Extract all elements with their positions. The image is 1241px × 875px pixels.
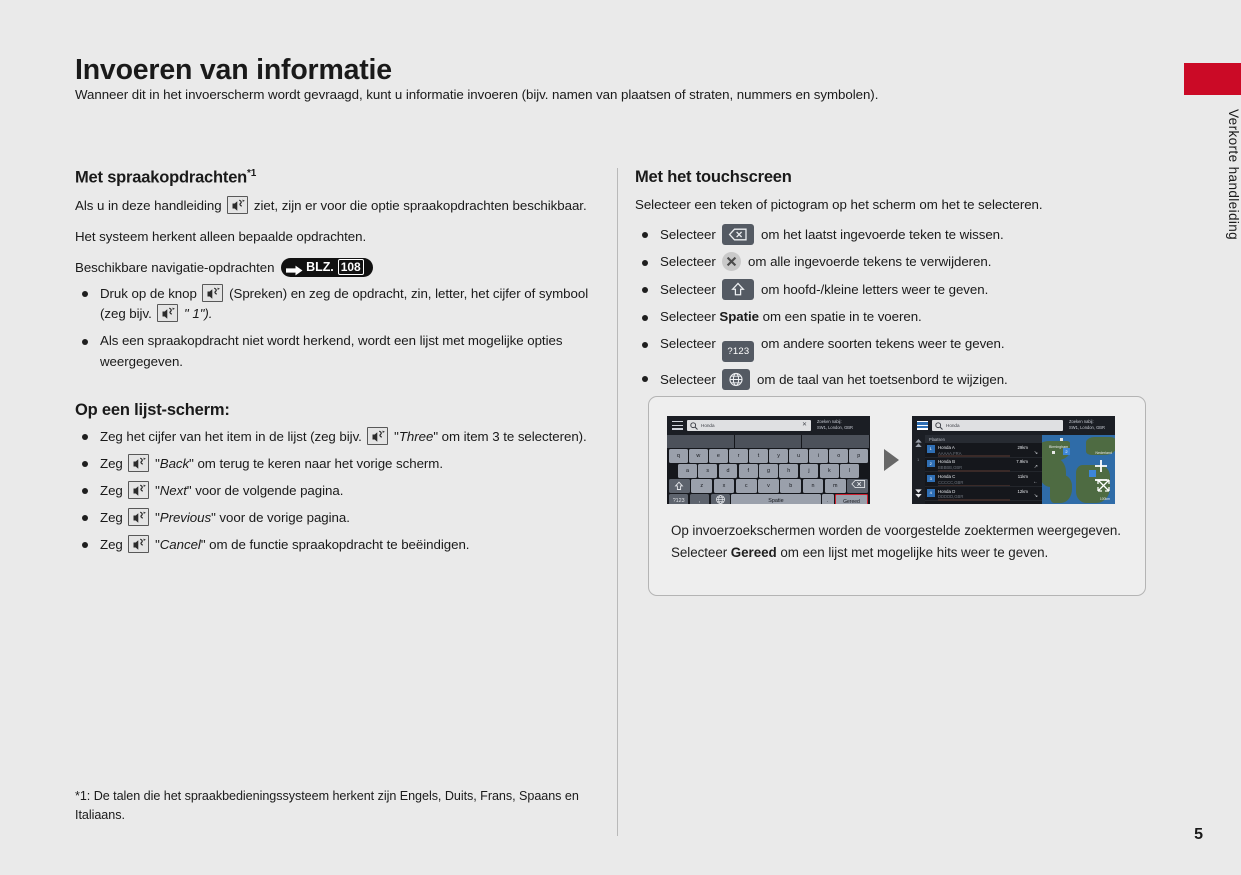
table-row[interactable] (925, 501, 1042, 504)
left-column: Met spraakopdrachten*1 Als u in deze han… (75, 168, 610, 562)
shift-icon[interactable] (669, 479, 690, 493)
key-y[interactable]: y (769, 449, 788, 463)
key-n[interactable]: n (803, 479, 824, 493)
lb-3-quote: Previous (160, 510, 211, 525)
key-m[interactable]: m (825, 479, 846, 493)
direction-icon: ← (1033, 479, 1038, 485)
backspace-icon[interactable] (722, 224, 754, 245)
list-item: Zeg "Previous" voor de vorige pagina. (75, 508, 610, 529)
callout-caption: Op invoerzoekschermen worden de voorgest… (671, 520, 1127, 563)
key-t[interactable]: t (749, 449, 768, 463)
search-value: Honda (701, 423, 715, 428)
key-s[interactable]: s (698, 464, 717, 478)
lb-4-a: Zeg (100, 537, 123, 552)
key-r[interactable]: r (729, 449, 748, 463)
page-index: 1 (917, 457, 919, 462)
tb-2-a: Selecteer (660, 282, 716, 297)
speak-icon (128, 535, 149, 553)
key-h[interactable]: h (779, 464, 798, 478)
voice-intro-a: Als u in deze handleiding (75, 198, 222, 213)
callout-caption-bold: Gereed (731, 545, 777, 560)
lb-3-b: " voor de vorige pagina. (211, 510, 350, 525)
row-name: Honda A (938, 445, 955, 450)
arrow-right-icon (286, 262, 303, 273)
side-tab-label: Verkorte handleiding (1184, 105, 1241, 305)
lb-1-b: " om terug te keren naar het vorige sche… (189, 456, 443, 471)
row-name: Honda D (938, 489, 955, 494)
voice-para3: Beschikbare navigatie-opdrachten BLZ. 10… (75, 257, 610, 278)
key-x[interactable]: x (714, 479, 735, 493)
symbols-icon[interactable]: ?123 (669, 494, 688, 504)
scroll-down-icon[interactable] (915, 489, 922, 499)
search-near-info: Zoeken nabij: SW1, London, GBR (817, 419, 867, 431)
footnote: *1: De talen die het spraakbedieningssys… (75, 787, 595, 825)
key-j[interactable]: j (800, 464, 819, 478)
voice-para2: Het systeem herkent alleen bepaalde opdr… (75, 226, 610, 247)
clear-icon[interactable]: ✕ (802, 422, 807, 428)
footnote-marker: *1 (247, 168, 256, 179)
key-w[interactable]: w (689, 449, 708, 463)
list-screen-bullets: Zeg het cijfer van het item in de lijst … (75, 427, 610, 556)
results-list-header: Plaatsen (925, 435, 1042, 443)
list-item: Zeg "Cancel" om de functie spraakopdrach… (75, 535, 610, 556)
voice-intro-paragraph: Als u in deze handleiding ziet, zijn er … (75, 195, 610, 216)
speak-icon (128, 508, 149, 526)
lb-2-a: Zeg (100, 483, 123, 498)
search-near-value: SW1, London, GBR (1069, 425, 1105, 430)
search-near-label: Zoeken nabij: (817, 419, 842, 424)
row-index: 2 (927, 460, 935, 468)
lb-4-quote: Cancel (160, 537, 201, 552)
key-space[interactable]: Spatie (731, 494, 820, 504)
direction-icon: ↗ (1034, 464, 1038, 470)
speak-icon (157, 304, 178, 322)
map-panel[interactable]: Birmingham Nederland 2 100km (1042, 435, 1115, 504)
lb-4-b: " om de functie spraakopdracht te beëind… (201, 537, 470, 552)
side-tab-accent (1184, 63, 1241, 95)
list-item: Selecteer om het laatst ingevoerde teken… (635, 224, 1170, 246)
key-v[interactable]: v (758, 479, 779, 493)
callout-caption-b: om een lijst met mogelijke hits weer te … (780, 545, 1048, 560)
on-screen-keyboard: q w e r t y u i o p a s d (667, 435, 870, 504)
keyboard-row-1: q w e r t y u i o p (667, 449, 870, 463)
list-item: Selecteer ?123 om andere soorten tekens … (635, 334, 1170, 362)
zoom-in-button[interactable] (1094, 459, 1108, 474)
symbols-icon[interactable]: ?123 (722, 341, 754, 362)
menu-icon[interactable] (672, 421, 683, 430)
voice-para3-text: Beschikbare navigatie-opdrachten (75, 260, 274, 275)
row-index: 4 (927, 489, 935, 497)
search-input[interactable]: Honda ✕ (687, 420, 811, 431)
key-l[interactable]: l (840, 464, 859, 478)
speak-icon (128, 481, 149, 499)
search-near-info: Zoeken nabij: SW1, London, GBR (1069, 419, 1115, 431)
page-subtitle: Wanneer dit in het invoerscherm wordt ge… (75, 87, 878, 102)
list-item: Zeg "Back" om terug te keren naar het vo… (75, 454, 610, 475)
side-tab-strip: Verkorte handleiding (1184, 0, 1241, 875)
page-number: 5 (1194, 826, 1203, 844)
key-b[interactable]: b (780, 479, 801, 493)
key-o[interactable]: o (829, 449, 848, 463)
map-pin[interactable]: 2 (1063, 448, 1070, 455)
row-distance: 7.9km (1016, 459, 1028, 464)
row-index: 1 (927, 445, 935, 453)
section-heading-voice-text: Met spraakopdrachten (75, 169, 247, 187)
voice-bullet-list: Druk op de knop (Spreken) en zeg de opdr… (75, 284, 610, 373)
right-column: Met het touchscreen Selecteer een teken … (635, 168, 1170, 397)
bullet-1-c: " 1"). (184, 306, 212, 321)
key-z[interactable]: z (691, 479, 712, 493)
tb-5-a: Selecteer (660, 372, 716, 387)
row-name: Honda B (938, 459, 955, 464)
page-reference-badge[interactable]: BLZ. 108 (281, 258, 372, 277)
scroll-rail[interactable]: 1 (912, 435, 925, 504)
section-heading-list-screen: Op een lijst-scherm: (75, 401, 610, 420)
list-item: Zeg het cijfer van het item in de lijst … (75, 427, 610, 448)
table-row[interactable]: 4 Honda D DDDDD,GBR 12km ↘ (925, 487, 1042, 502)
nav-keyboard-screenshot: Honda ✕ Zoeken nabij: SW1, London, GBR q… (667, 416, 870, 504)
lb-1-a: Zeg (100, 456, 123, 471)
key-d[interactable]: d (719, 464, 738, 478)
tb-4-a: Selecteer (660, 336, 716, 351)
lb-3-a: Zeg (100, 510, 123, 525)
tb-2-b: om hoofd-/kleine letters weer te geven. (761, 282, 988, 297)
backspace-icon[interactable] (847, 479, 868, 493)
column-divider (617, 168, 618, 836)
key-e[interactable]: e (709, 449, 728, 463)
bullet-2-a: Als een spraakopdracht niet wordt herken… (100, 333, 562, 369)
search-icon (935, 422, 943, 431)
keyboard-row-2: a s d f g h j k l (667, 464, 870, 478)
scroll-up-icon[interactable] (915, 439, 922, 449)
table-row[interactable]: 1 Honda A AAAAA,FRA 29km ↘ (925, 443, 1042, 458)
list-item: Druk op de knop (Spreken) en zeg de opdr… (75, 284, 610, 325)
list-item: Als een spraakopdracht niet wordt herken… (75, 331, 610, 372)
screenshot-pair: Honda ✕ Zoeken nabij: SW1, London, GBR q… (667, 416, 1115, 504)
keyboard-row-3: z x c v b n m (667, 479, 870, 493)
arrow-right-icon (870, 416, 912, 504)
speak-icon (227, 196, 248, 214)
lb-0-a: Zeg het cijfer van het item in de lijst … (100, 429, 362, 444)
section-heading-voice: Met spraakopdrachten*1 (75, 168, 610, 188)
shift-icon[interactable] (722, 279, 754, 300)
clear-all-icon[interactable] (722, 252, 741, 271)
voice-intro-b: ziet, zijn er voor die optie spraakopdra… (254, 198, 587, 213)
done-button[interactable]: Gereed (835, 494, 868, 504)
search-icon (690, 422, 698, 431)
manual-page: Verkorte handleiding Invoeren van inform… (0, 0, 1241, 875)
lb-0-quote: Three (399, 429, 434, 444)
key-a[interactable]: a (678, 464, 697, 478)
row-index: 3 (927, 475, 935, 483)
search-near-label: Zoeken nabij: (1069, 419, 1094, 424)
touchscreen-intro: Selecteer een teken of pictogram op het … (635, 194, 1170, 215)
list-item: Selecteer om hoofd-/kleine letters weer … (635, 279, 1170, 301)
tb-1-b: om alle ingevoerde tekens te verwijderen… (748, 254, 991, 269)
page-title: Invoeren van informatie (75, 54, 392, 87)
row-distance: 11km (1018, 474, 1028, 479)
tb-0-b: om het laatst ingevoerde teken te wissen… (761, 227, 1004, 242)
tb-3-b: om een spatie in te voeren. (763, 309, 922, 324)
speak-icon (367, 427, 388, 445)
list-item: Zeg "Next" voor de volgende pagina. (75, 481, 610, 502)
expand-map-icon[interactable] (1097, 479, 1110, 493)
map-scale-label: 100km (1100, 497, 1110, 501)
key-comma[interactable]: , (690, 494, 709, 504)
keyboard-row-4: ?123 , Spatie . Gereed (667, 494, 870, 504)
results-body: 1 Plaatsen 1 Honda A AAAAA,FRA 29km (912, 435, 1115, 504)
map-label-2: Nederland (1095, 451, 1112, 455)
table-row[interactable]: 3 Honda C CCCCC,GBR 11km ← (925, 472, 1042, 487)
search-near-value: SW1, London, GBR (817, 425, 853, 430)
key-i[interactable]: i (809, 449, 828, 463)
list-item: Selecteer om alle ingevoerde tekens te v… (635, 252, 1170, 273)
lb-1-quote: Back (160, 456, 189, 471)
page-reference-number: 108 (338, 259, 364, 275)
tb-5-b: om de taal van het toetsenbord te wijzig… (757, 372, 1008, 387)
direction-icon: ↘ (1034, 493, 1038, 499)
tb-1-a: Selecteer (660, 254, 716, 269)
key-p[interactable]: p (849, 449, 868, 463)
section-heading-touchscreen: Met het touchscreen (635, 168, 1170, 187)
table-row[interactable]: 2 Honda B BBBBB,GBR 7.9km ↗ (925, 458, 1042, 473)
illustration-callout: Honda ✕ Zoeken nabij: SW1, London, GBR q… (648, 396, 1146, 596)
row-name: Honda C (938, 474, 955, 479)
suggestion-bar (667, 435, 870, 448)
globe-icon[interactable] (711, 494, 730, 504)
row-distance: 29km (1017, 445, 1028, 450)
key-c[interactable]: c (736, 479, 757, 493)
nav-results-screenshot: Honda Zoeken nabij: SW1, London, GBR 1 (912, 416, 1115, 504)
lb-2-b: " voor de volgende pagina. (187, 483, 343, 498)
key-f[interactable]: f (739, 464, 758, 478)
key-u[interactable]: u (789, 449, 808, 463)
globe-icon[interactable] (722, 369, 750, 390)
menu-icon[interactable] (917, 421, 928, 430)
tb-4-b: om andere soorten tekens weer te geven. (761, 336, 1004, 351)
bullet-1-a: Druk op de knop (100, 286, 197, 301)
tb-3-a: Selecteer (660, 309, 716, 324)
key-period[interactable]: . (822, 494, 834, 504)
direction-icon: ↘ (1034, 450, 1038, 456)
results-list: Plaatsen 1 Honda A AAAAA,FRA 29km ↘ 2 Ho… (925, 435, 1042, 504)
touchscreen-bullets: Selecteer om het laatst ingevoerde teken… (635, 224, 1170, 390)
list-item: Selecteer Spatie om een spatie in te voe… (635, 307, 1170, 328)
speak-icon (128, 454, 149, 472)
lb-0-b: " om item 3 te selecteren). (433, 429, 586, 444)
speak-icon (202, 284, 223, 302)
key-k[interactable]: k (820, 464, 839, 478)
tb-3-bold: Spatie (719, 309, 759, 324)
key-g[interactable]: g (759, 464, 778, 478)
row-distance: 12km (1017, 489, 1028, 494)
nav-top-bar: Honda Zoeken nabij: SW1, London, GBR (912, 416, 1115, 435)
key-q[interactable]: q (669, 449, 688, 463)
tb-0-a: Selecteer (660, 227, 716, 242)
list-item: Selecteer om de taal van het toetsenbord… (635, 369, 1170, 391)
search-input[interactable]: Honda (932, 420, 1063, 431)
search-value: Honda (946, 423, 960, 428)
lb-2-quote: Next (160, 483, 187, 498)
page-reference-label: BLZ. (306, 257, 334, 278)
nav-top-bar: Honda ✕ Zoeken nabij: SW1, London, GBR (667, 416, 870, 435)
